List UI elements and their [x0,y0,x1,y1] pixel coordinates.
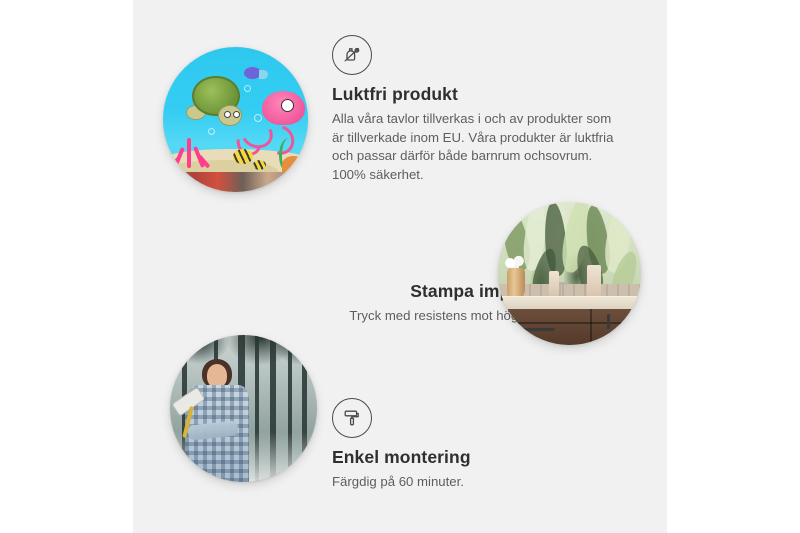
paint-roller-icon-wrap [332,398,372,438]
woman-with-paint-roller-forest-photo [170,335,317,482]
no-fragrance-icon-wrap [332,35,372,75]
fish-icon [253,160,266,170]
feature-luktfri-produkt: Luktfri produkt Alla våra tavlor tillver… [332,35,622,185]
feature-description: Alla våra tavlor tillverkas i och av pro… [332,110,622,185]
turtle-eye [224,111,231,118]
bathroom-botanical-wallpaper-photo [498,202,641,345]
bathroom-scene [498,202,641,345]
octopus-eye [281,99,294,112]
feature-title: Enkel montering [332,447,612,468]
towel [549,271,559,297]
feature-description: Färgdig på 60 minuter. [332,473,612,492]
cabinet-seam [590,309,592,345]
towel [587,265,601,296]
feature-enkel-montering: Enkel montering Färgdig på 60 minuter. [332,398,612,492]
fish-icon [233,149,253,164]
forest-scene [170,335,317,482]
bubble-icon [244,85,251,92]
starfish [282,156,305,173]
coral [170,135,208,173]
underwater-kids-mural-photo [163,47,308,192]
feature-title: Luktfri produkt [332,84,622,105]
fish-tail-icon [259,70,268,79]
vase [507,268,526,299]
vanity-cabinet [498,309,641,345]
no-fragrance-icon [332,35,372,75]
content-panel: Luktfri produkt Alla våra tavlor tillver… [133,0,667,533]
paint-roller-icon [332,398,372,438]
door-handle [607,314,610,329]
forest-canopy [170,335,317,391]
screenshot-root: Luktfri produkt Alla våra tavlor tillver… [0,0,800,533]
cabinet-seam [498,322,641,324]
foreground-strip [163,172,308,192]
turtle-eye [233,111,240,118]
underwater-scene [163,47,308,192]
drawer-handle [519,328,555,331]
